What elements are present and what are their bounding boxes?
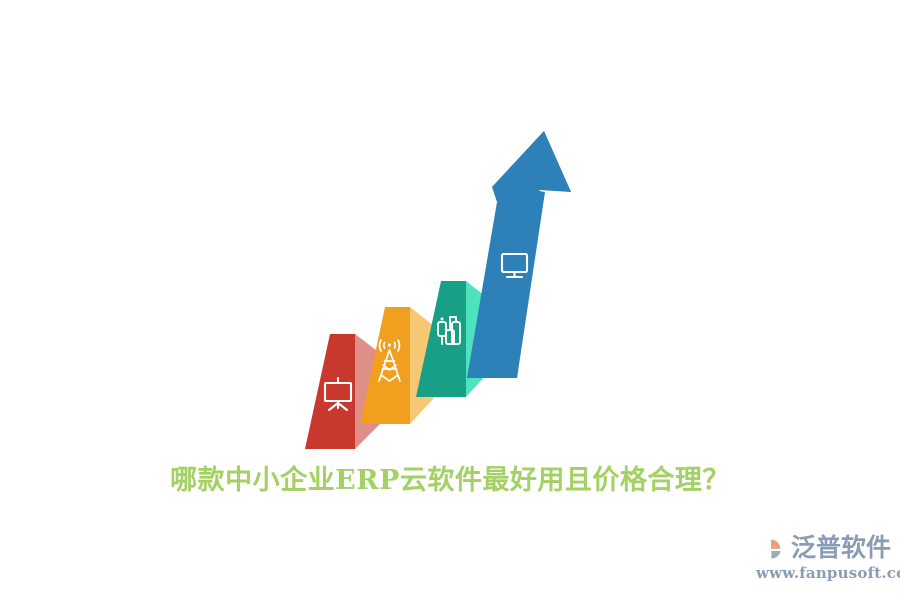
watermark-brand-name: 泛普软件 bbox=[791, 533, 891, 563]
blue-arrow-head bbox=[492, 131, 571, 192]
step-1-front-face bbox=[305, 334, 355, 449]
brand-watermark: 泛普软件 www.fanpusoft.com bbox=[754, 530, 892, 592]
watermark-brand-row: 泛普软件 bbox=[754, 532, 891, 564]
fanpu-logo-icon bbox=[754, 532, 788, 564]
page-title: 哪款中小企业ERP云软件最好用且价格合理？ bbox=[0, 462, 900, 500]
blue-arrow-shaft bbox=[467, 186, 545, 378]
step-4-blue-arrow bbox=[467, 131, 571, 378]
growth-arrow-illustration bbox=[0, 0, 900, 600]
screenshot-canvas: 哪款中小企业ERP云软件最好用且价格合理？ 泛普软件 www.fanpusoft… bbox=[0, 0, 900, 600]
watermark-url: www.fanpusoft.com bbox=[756, 564, 900, 582]
